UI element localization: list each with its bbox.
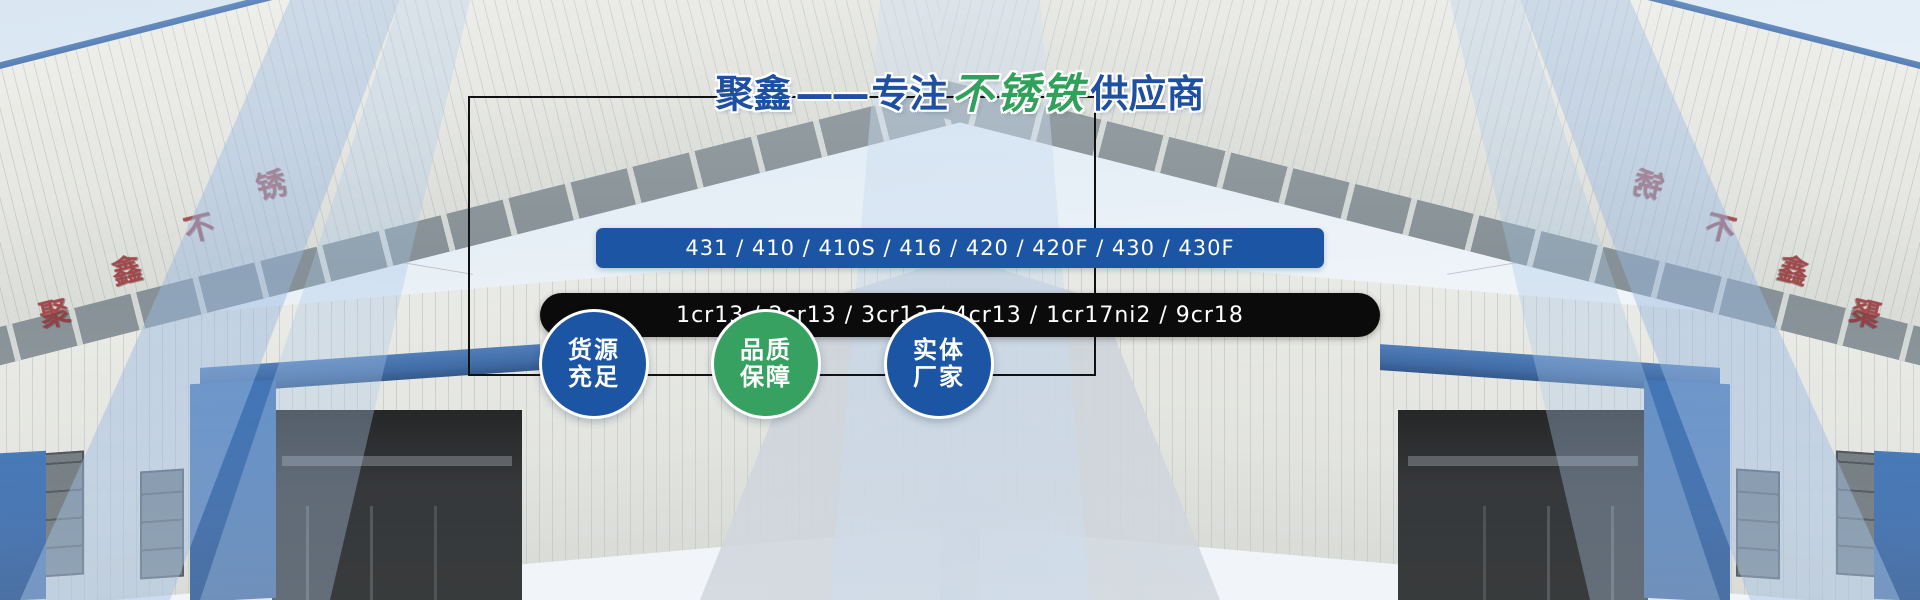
badge-factory: 实体 厂家 — [884, 309, 994, 419]
headline-dash: —— — [793, 75, 869, 113]
badge-line-2: 保障 — [740, 364, 792, 391]
badge-line-2: 厂家 — [913, 364, 965, 391]
badge-quality: 品质 保障 — [711, 309, 821, 419]
promotional-banner: 聚 鑫 不 锈 聚 鑫 不 锈 — [0, 0, 1920, 600]
banner-headline: 聚鑫——专注不锈铁供应商 — [0, 72, 1920, 115]
headline-highlight: 不锈铁 — [950, 73, 1089, 115]
headline-focus: 专注 — [869, 75, 949, 113]
badge-line-1: 货源 — [568, 337, 620, 364]
badge-supply: 货源 充足 — [539, 309, 649, 419]
badge-line-1: 实体 — [913, 337, 965, 364]
badge-line-1: 品质 — [740, 337, 792, 364]
headline-supplier: 供应商 — [1089, 75, 1207, 113]
grade-bar-primary: 431 / 410 / 410S / 416 / 420 / 420F / 43… — [596, 228, 1324, 268]
feature-badge-row: 货源 充足 品质 保障 实体 厂家 — [0, 309, 1920, 419]
headline-brand: 聚鑫 — [713, 75, 793, 113]
banner-content: 聚鑫——专注不锈铁供应商 431 / 410 / 410S / 416 / 42… — [0, 0, 1920, 600]
badge-line-2: 充足 — [568, 364, 620, 391]
